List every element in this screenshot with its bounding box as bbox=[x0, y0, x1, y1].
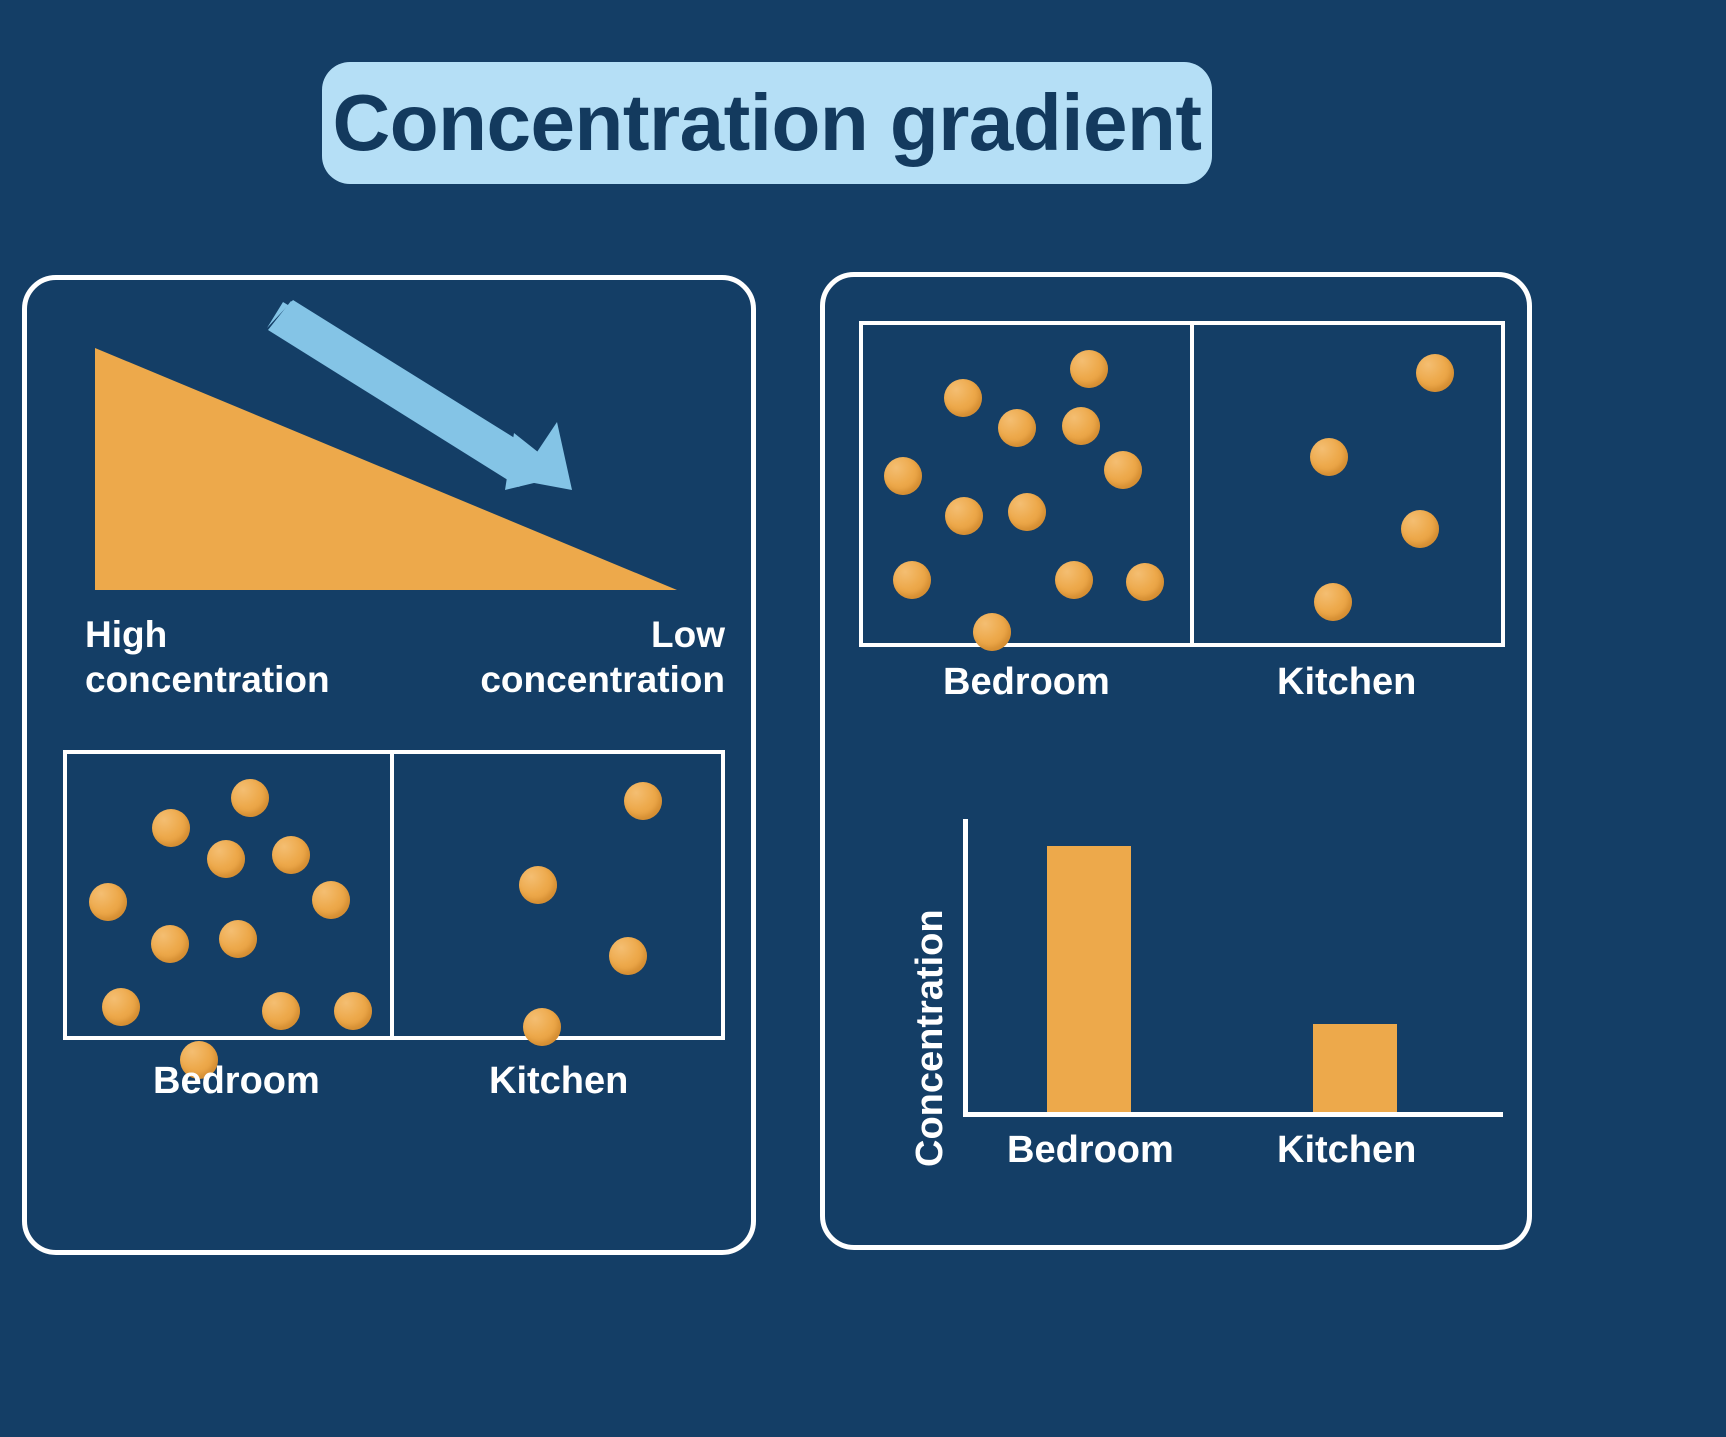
particle-dot bbox=[312, 881, 350, 919]
particle-dot bbox=[152, 809, 190, 847]
bar-label-kitchen: Kitchen bbox=[1277, 1129, 1416, 1172]
gradient-triangle-and-arrow-svg bbox=[27, 280, 761, 610]
room-divider bbox=[1190, 325, 1194, 643]
particle-dot bbox=[519, 866, 557, 904]
particle-dot bbox=[219, 920, 257, 958]
particle-dot bbox=[231, 779, 269, 817]
chart-x-axis bbox=[963, 1112, 1503, 1117]
left-kitchen-label: Kitchen bbox=[489, 1060, 628, 1103]
particle-dot bbox=[1008, 493, 1046, 531]
bar-bedroom bbox=[1047, 846, 1131, 1112]
page-title: Concentration gradient bbox=[332, 83, 1201, 163]
left-rooms-container bbox=[63, 750, 725, 1040]
particle-dot bbox=[151, 925, 189, 963]
particle-dot bbox=[1314, 583, 1352, 621]
gradient-illustration bbox=[27, 280, 761, 610]
particle-dot bbox=[998, 409, 1036, 447]
particle-dot bbox=[334, 992, 372, 1030]
particle-dot bbox=[884, 457, 922, 495]
left-bedroom-label: Bedroom bbox=[153, 1060, 320, 1103]
right-kitchen-label: Kitchen bbox=[1277, 661, 1416, 704]
particle-dot bbox=[262, 992, 300, 1030]
particle-dot bbox=[1055, 561, 1093, 599]
particle-dot bbox=[945, 497, 983, 535]
infographic-canvas: Concentration gradient High concentratio… bbox=[0, 0, 1726, 1437]
particle-dot bbox=[207, 840, 245, 878]
particle-dot bbox=[89, 883, 127, 921]
concentration-bar-chart: Concentration Bedroom Kitchen bbox=[885, 807, 1525, 1207]
particle-dot bbox=[272, 836, 310, 874]
particle-dot bbox=[609, 937, 647, 975]
right-rooms-container bbox=[859, 321, 1505, 647]
particle-dot bbox=[1401, 510, 1439, 548]
particle-dot bbox=[523, 1008, 561, 1046]
high-concentration-label: High concentration bbox=[85, 612, 330, 702]
particle-dot bbox=[1416, 354, 1454, 392]
chart-y-axis-label: Concentration bbox=[909, 909, 952, 1167]
low-concentration-label: Low concentration bbox=[480, 612, 725, 702]
bar-label-bedroom: Bedroom bbox=[1007, 1129, 1174, 1172]
particle-dot bbox=[102, 988, 140, 1026]
particle-dot bbox=[1062, 407, 1100, 445]
particle-dot bbox=[944, 379, 982, 417]
particle-dot bbox=[1310, 438, 1348, 476]
title-badge: Concentration gradient bbox=[322, 62, 1212, 184]
particle-dot bbox=[1070, 350, 1108, 388]
right-bedroom-label: Bedroom bbox=[943, 661, 1110, 704]
bar-kitchen bbox=[1313, 1024, 1397, 1112]
chart-y-axis bbox=[963, 819, 968, 1117]
particle-dot bbox=[1104, 451, 1142, 489]
particle-dot bbox=[1126, 563, 1164, 601]
particle-dot bbox=[624, 782, 662, 820]
gradient-concentration-labels: High concentration Low concentration bbox=[27, 612, 761, 722]
right-panel-equilibrium: Bedroom Kitchen Concentration Bedroom Ki… bbox=[820, 272, 1532, 1250]
room-divider bbox=[390, 754, 394, 1036]
particle-dot bbox=[893, 561, 931, 599]
left-panel-concentration-gradient: High concentration Low concentration Bed… bbox=[22, 275, 756, 1255]
particle-dot bbox=[973, 613, 1011, 651]
